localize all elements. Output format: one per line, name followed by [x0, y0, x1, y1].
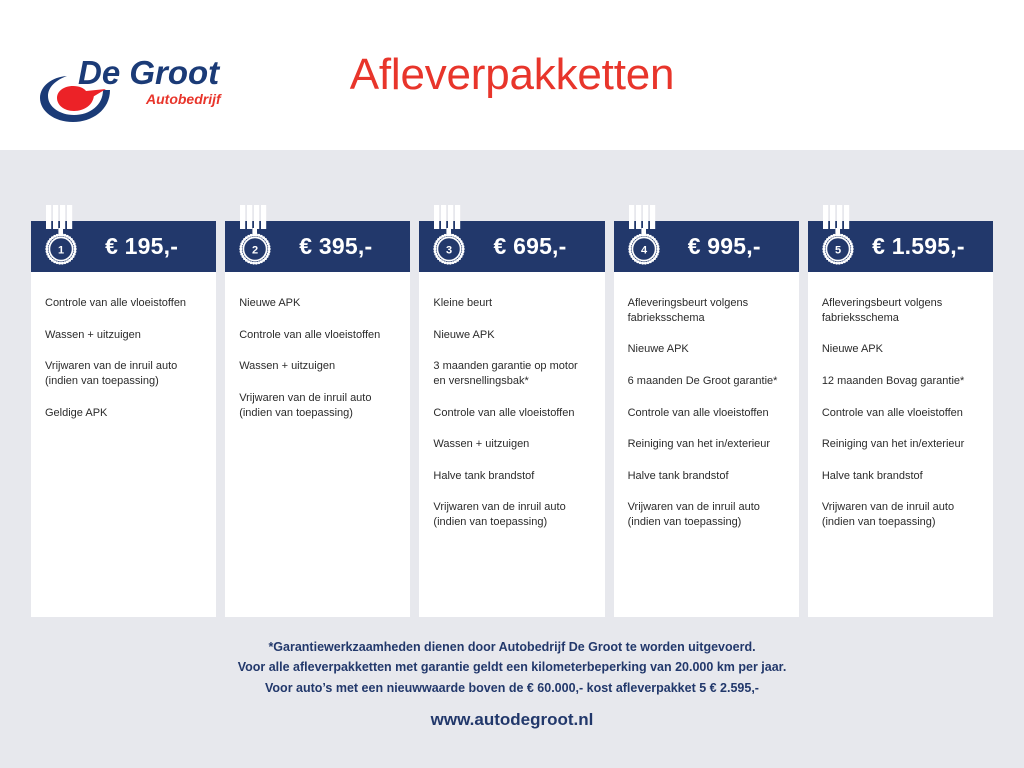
package-card[interactable]: 5 € 1.595,-Afleveringsbeurt volgens fabr…: [808, 221, 993, 617]
package-feature-list: Kleine beurtNieuwe APK3 maanden garantie…: [419, 272, 604, 557]
package-card[interactable]: 3 € 695,-Kleine beurtNieuwe APK3 maanden…: [419, 221, 604, 617]
package-price: € 995,-: [614, 233, 799, 260]
footnote-line: *Garantiewerkzaamheden dienen door Autob…: [0, 637, 1024, 657]
package-feature-item: Kleine beurt: [433, 296, 589, 311]
package-card-header: 3 € 695,-: [419, 221, 604, 272]
package-price: € 395,-: [225, 233, 410, 260]
package-price: € 1.595,-: [808, 233, 993, 260]
package-card[interactable]: 2 € 395,-Nieuwe APKControle van alle vlo…: [225, 221, 410, 617]
package-feature-item: 12 maanden Bovag garantie*: [822, 374, 978, 389]
top-header-band: De Groot Autobedrijf Afleverpakketten: [0, 0, 1024, 150]
package-feature-item: Wassen + uitzuigen: [45, 328, 201, 343]
package-card-header: 5 € 1.595,-: [808, 221, 993, 272]
package-feature-item: 3 maanden garantie op motor en versnelli…: [433, 359, 589, 388]
package-feature-item: Halve tank brandstof: [433, 469, 589, 484]
package-feature-item: 6 maanden De Groot garantie*: [628, 374, 784, 389]
footnote-line: Voor alle afleverpakketten met garantie …: [0, 657, 1024, 677]
package-feature-item: Nieuwe APK: [433, 328, 589, 343]
package-feature-list: Afleveringsbeurt volgens fabrieksschemaN…: [614, 272, 799, 557]
package-card-header: 4 € 995,-: [614, 221, 799, 272]
package-feature-item: Reiniging van het in/exterieur: [628, 437, 784, 452]
package-feature-item: Controle van alle vloeistoffen: [628, 406, 784, 421]
package-feature-item: Controle van alle vloeistoffen: [45, 296, 201, 311]
package-feature-item: Halve tank brandstof: [628, 469, 784, 484]
package-cards-row: 1 € 195,-Controle van alle vloeistoffenW…: [31, 221, 993, 617]
footnote-line: Voor auto’s met een nieuwwaarde boven de…: [0, 678, 1024, 698]
package-feature-item: Vrijwaren van de inruil auto (indien van…: [822, 500, 978, 529]
package-feature-item: Vrijwaren van de inruil auto (indien van…: [433, 500, 589, 529]
package-feature-list: Nieuwe APKControle van alle vloeistoffen…: [225, 272, 410, 447]
package-feature-item: Nieuwe APK: [822, 342, 978, 357]
package-feature-item: Vrijwaren van de inruil auto (indien van…: [628, 500, 784, 529]
package-feature-item: Controle van alle vloeistoffen: [822, 406, 978, 421]
page-title: Afleverpakketten: [0, 50, 1024, 100]
package-feature-item: Vrijwaren van de inruil auto (indien van…: [45, 359, 201, 388]
package-feature-item: Nieuwe APK: [628, 342, 784, 357]
package-price: € 195,-: [31, 233, 216, 260]
package-feature-item: Controle van alle vloeistoffen: [239, 328, 395, 343]
package-feature-item: Controle van alle vloeistoffen: [433, 406, 589, 421]
website-url[interactable]: www.autodegroot.nl: [0, 710, 1024, 730]
footnotes-block: *Garantiewerkzaamheden dienen door Autob…: [0, 637, 1024, 698]
package-feature-item: Geldige APK: [45, 406, 201, 421]
package-price: € 695,-: [419, 233, 604, 260]
package-feature-item: Afleveringsbeurt volgens fabrieksschema: [822, 296, 978, 325]
package-card[interactable]: 4 € 995,-Afleveringsbeurt volgens fabrie…: [614, 221, 799, 617]
package-card-header: 1 € 195,-: [31, 221, 216, 272]
package-feature-item: Afleveringsbeurt volgens fabrieksschema: [628, 296, 784, 325]
package-card[interactable]: 1 € 195,-Controle van alle vloeistoffenW…: [31, 221, 216, 617]
package-feature-item: Reiniging van het in/exterieur: [822, 437, 978, 452]
package-feature-list: Controle van alle vloeistoffenWassen + u…: [31, 272, 216, 447]
package-feature-list: Afleveringsbeurt volgens fabrieksschemaN…: [808, 272, 993, 557]
package-feature-item: Wassen + uitzuigen: [433, 437, 589, 452]
package-feature-item: Nieuwe APK: [239, 296, 395, 311]
package-feature-item: Wassen + uitzuigen: [239, 359, 395, 374]
package-card-header: 2 € 395,-: [225, 221, 410, 272]
package-feature-item: Vrijwaren van de inruil auto (indien van…: [239, 391, 395, 420]
package-feature-item: Halve tank brandstof: [822, 469, 978, 484]
